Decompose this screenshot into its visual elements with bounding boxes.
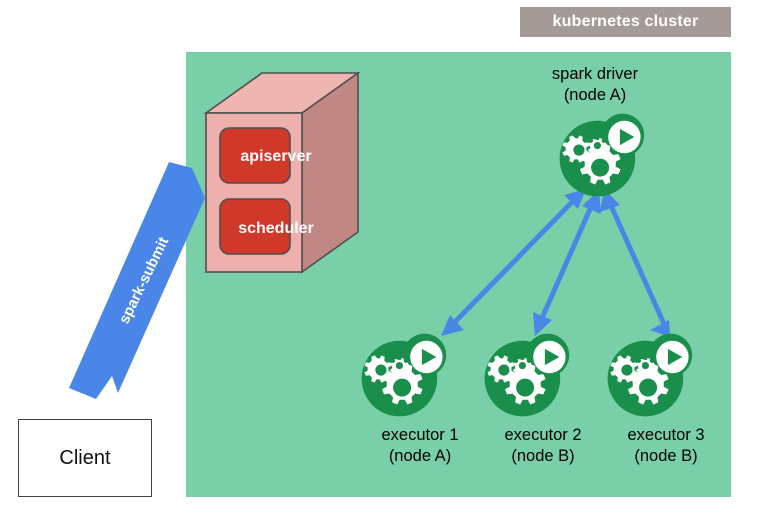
scheduler-label: scheduler bbox=[221, 220, 331, 238]
spark-driver-subtitle: (node A) bbox=[505, 85, 685, 106]
client-label: Client bbox=[59, 447, 110, 470]
spark-driver-title: spark driver bbox=[552, 65, 638, 83]
executor-3-label: executor 3 (node B) bbox=[576, 425, 756, 467]
executor-2-title: executor 2 bbox=[504, 426, 581, 444]
control-plane-cube bbox=[206, 73, 358, 272]
client-box[interactable]: Client bbox=[18, 419, 152, 497]
kubernetes-cluster-badge: kubernetes cluster bbox=[520, 7, 731, 37]
executor-1-title: executor 1 bbox=[381, 426, 458, 444]
kubernetes-cluster-badge-label: kubernetes cluster bbox=[553, 13, 699, 31]
executor-3-title: executor 3 bbox=[627, 426, 704, 444]
executor-3-subtitle: (node B) bbox=[576, 446, 756, 467]
spark-driver-label: spark driver (node A) bbox=[505, 64, 685, 106]
apiserver-label: apiserver bbox=[221, 148, 331, 166]
diagram-canvas: kubernetes cluster Client bbox=[0, 0, 761, 516]
